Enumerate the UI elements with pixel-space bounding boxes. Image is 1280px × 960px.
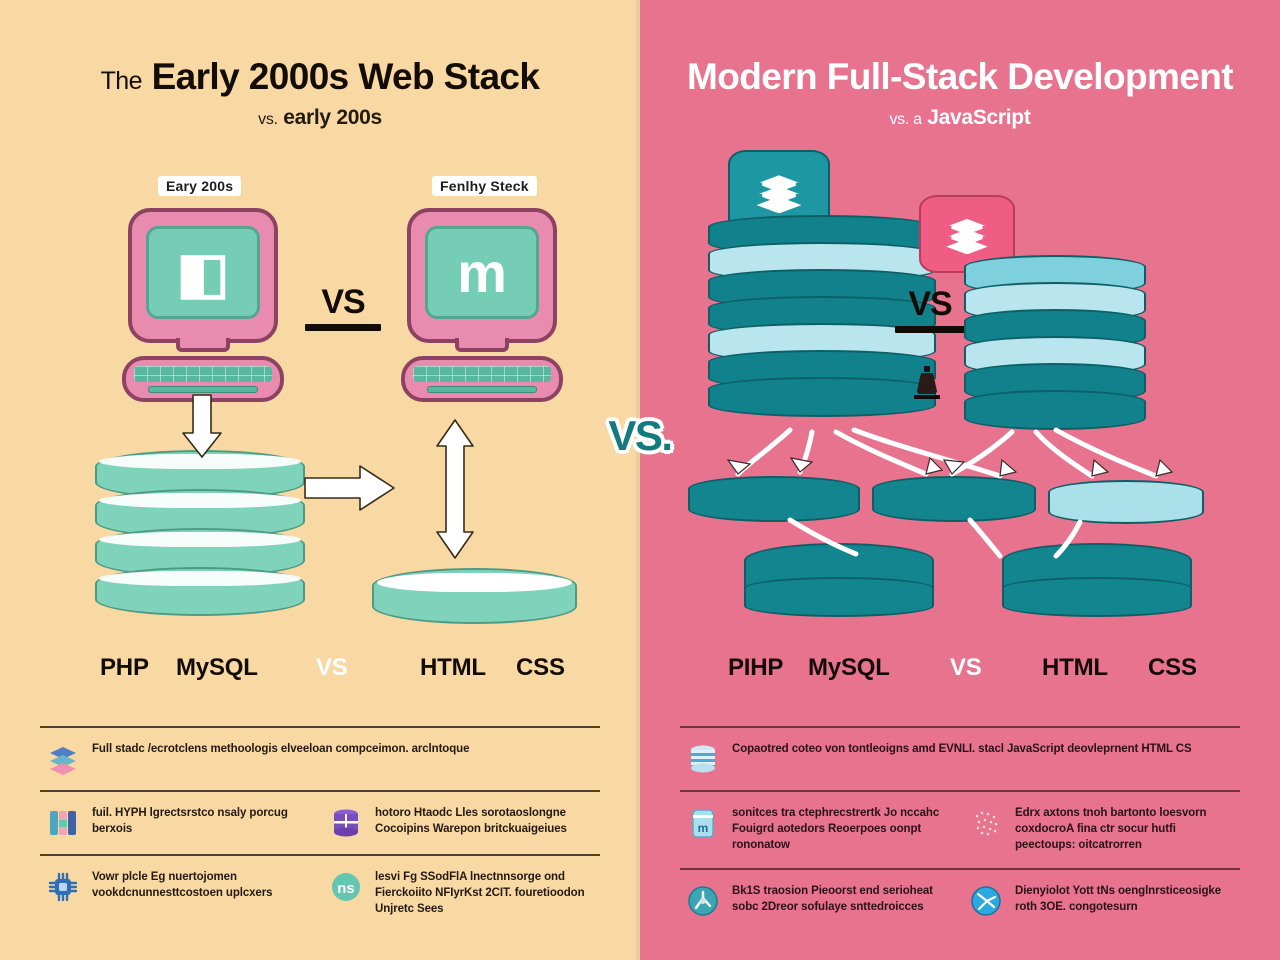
center-vs-badge: VS. [608,412,671,460]
legend-item: Copaotred coteo von tontleoigns amd EVNL… [686,742,1234,776]
legend-item: ns lesvi Fg SSodFlA lnectnnsorge ond Fie… [329,870,594,918]
right-vs-mark: VS [895,285,965,333]
infographic-root: The Early 2000s Web Stack vs. early 200s… [0,0,1280,960]
right-subtitle: vs. a JavaScript [640,106,1280,130]
flask-bottle-icon [910,364,946,400]
mint-database-stack [95,450,305,616]
node-network-icon [686,884,720,918]
left-subtitle: vs. early 200s [0,106,640,130]
retro-monitor-mysql[interactable]: m [407,208,557,343]
db-ring [964,390,1146,430]
left-tech-row: PHP MySQL VS HTML CSS [0,654,640,688]
left-legend: Full stadc /ecrotclens methoologis elvee… [40,726,600,932]
svg-text:ns: ns [337,880,355,897]
keyboard [122,356,284,402]
right-legend: Copaotred coteo von tontleoigns amd EVNL… [680,726,1240,932]
service-puck-1 [688,476,860,522]
legend-item: Dienyiolot Yott tNs oenglnrsticeosigke r… [969,884,1234,918]
legend-item: fuil. HYPH lgrectsrstco nsaly porcug ber… [46,806,311,840]
legend-text: Copaotred coteo von tontleoigns amd EVNL… [732,742,1192,758]
legend-row: fuil. HYPH lgrectsrstco nsaly porcug ber… [40,790,600,854]
legend-row: m sonitces tra ctephrecstrertk Jo nccahc… [680,790,1240,868]
svg-text:m: m [698,821,709,835]
legend-row: Vowr plcle Eg nuertojomen vookdcnunnestt… [40,854,600,932]
left-title: The Early 2000s Web Stack [0,58,640,97]
keyboard [401,356,563,402]
tech-label-html: HTML [1042,654,1108,682]
right-tech-row: PIHP MySQL VS HTML CSS [640,654,1280,688]
left-title-block: The Early 2000s Web Stack vs. early 200s [0,58,640,130]
left-title-prefix: The [101,67,142,95]
right-subtitle-prefix: vs. a [889,111,921,128]
keyboard-keys [413,366,551,382]
legend-text: Full stadc /ecrotclens methoologis elvee… [92,742,469,758]
crt-neck [176,338,230,352]
html-blocks-icon [46,806,80,840]
keyboard-keys [134,366,272,382]
retro-monitor-php[interactable]: ◧ [128,208,278,343]
left-vs-mark: VS [305,283,381,331]
mint-flat-disc [372,568,577,624]
tech-label-vs: VS [950,654,982,682]
crt-body: ◧ [128,208,278,343]
tech-label-php: PHP [100,654,149,682]
legend-text: hotoro Htaodc Lles sorotaoslongne Cocoip… [375,806,594,838]
legend-text: fuil. HYPH lgrectsrstco nsaly porcug ber… [92,806,311,838]
legend-item: Full stadc /ecrotclens methoologis elvee… [46,742,594,776]
keyboard-spacebar [148,386,259,393]
tech-label-php: PIHP [728,654,783,682]
tech-label-mysql: MySQL [808,654,890,682]
chip-processor-icon [46,870,80,904]
teal-database-stack-right [964,255,1146,430]
php-cube-icon: ◧ [177,245,230,301]
left-subtitle-prefix: vs. [258,111,278,128]
legend-item: Edrx axtons tnoh bartonto loesvorn coxdo… [969,806,1234,854]
crt-screen: ◧ [146,226,260,319]
left-subtitle-main: early 200s [283,106,382,129]
purple-database-icon [329,806,363,840]
legend-text: lesvi Fg SSodFlA lnectnnsorge ond Fierck… [375,870,594,918]
left-vs-text: VS [305,283,381,322]
right-vs-text: VS [895,285,965,324]
sticker-eary-200s: Eary 200s [158,176,241,196]
db-ring [708,377,936,417]
layers-glyph-icon [941,215,993,254]
crt-screen: m [425,226,539,319]
right-title-block: Modern Full-Stack Development vs. a Java… [640,58,1280,130]
legend-row: Copaotred coteo von tontleoigns amd EVNL… [680,726,1240,790]
db-disc [95,567,305,616]
service-puck-3 [1048,480,1204,524]
crt-body: m [407,208,557,343]
tech-label-css: CSS [1148,654,1197,682]
react-atom-icon [969,884,1003,918]
tech-label-css: CSS [516,654,565,682]
legend-item: hotoro Htaodc Lles sorotaoslongne Cocoip… [329,806,594,840]
legend-item: m sonitces tra ctephrecstrertk Jo nccahc… [686,806,951,854]
legend-item: Bk1S traosion Pieoorst end serioheat sob… [686,884,951,918]
tech-label-vs: VS [316,654,348,682]
panel-early-2000s: The Early 2000s Web Stack vs. early 200s… [0,0,640,960]
legend-row: Bk1S traosion Pieoorst end serioheat sob… [680,868,1240,932]
layers-stack-icon [46,742,80,776]
right-subtitle-main: JavaScript [927,106,1030,129]
node-ns-icon: ns [329,870,363,904]
database-stripes-icon [686,742,720,776]
legend-text: Bk1S traosion Pieoorst end serioheat sob… [732,884,951,916]
keyboard-spacebar [427,386,538,393]
tech-label-mysql: MySQL [176,654,258,682]
crt-neck [455,338,509,352]
service-puck-5 [1002,543,1192,605]
mysql-m-icon: m [457,245,507,301]
legend-text: Vowr plcle Eg nuertojomen vookdcnunnestt… [92,870,311,902]
legend-text: sonitces tra ctephrecstrertk Jo nccahc F… [732,806,951,854]
legend-item: Vowr plcle Eg nuertojomen vookdcnunnestt… [46,870,311,904]
left-vs-underline [305,324,381,331]
mongodb-jar-icon: m [686,806,720,840]
tech-label-html: HTML [420,654,486,682]
right-title: Modern Full-Stack Development [640,58,1280,97]
layers-glyph-icon [751,171,807,213]
legend-row: Full stadc /ecrotclens methoologis elvee… [40,726,600,790]
legend-text: Dienyiolot Yott tNs oenglnrsticeosigke r… [1015,884,1234,916]
panel-modern-fullstack: Modern Full-Stack Development vs. a Java… [640,0,1280,960]
right-vs-underline [895,326,965,333]
particle-cloud-icon [969,806,1003,840]
legend-text: Edrx axtons tnoh bartonto loesvorn coxdo… [1015,806,1234,854]
service-puck-2 [872,476,1036,522]
service-puck-4 [744,543,934,605]
sticker-fenlhy-steck: Fenlhy Steck [432,176,537,196]
left-title-main: Early 2000s Web Stack [152,56,540,97]
